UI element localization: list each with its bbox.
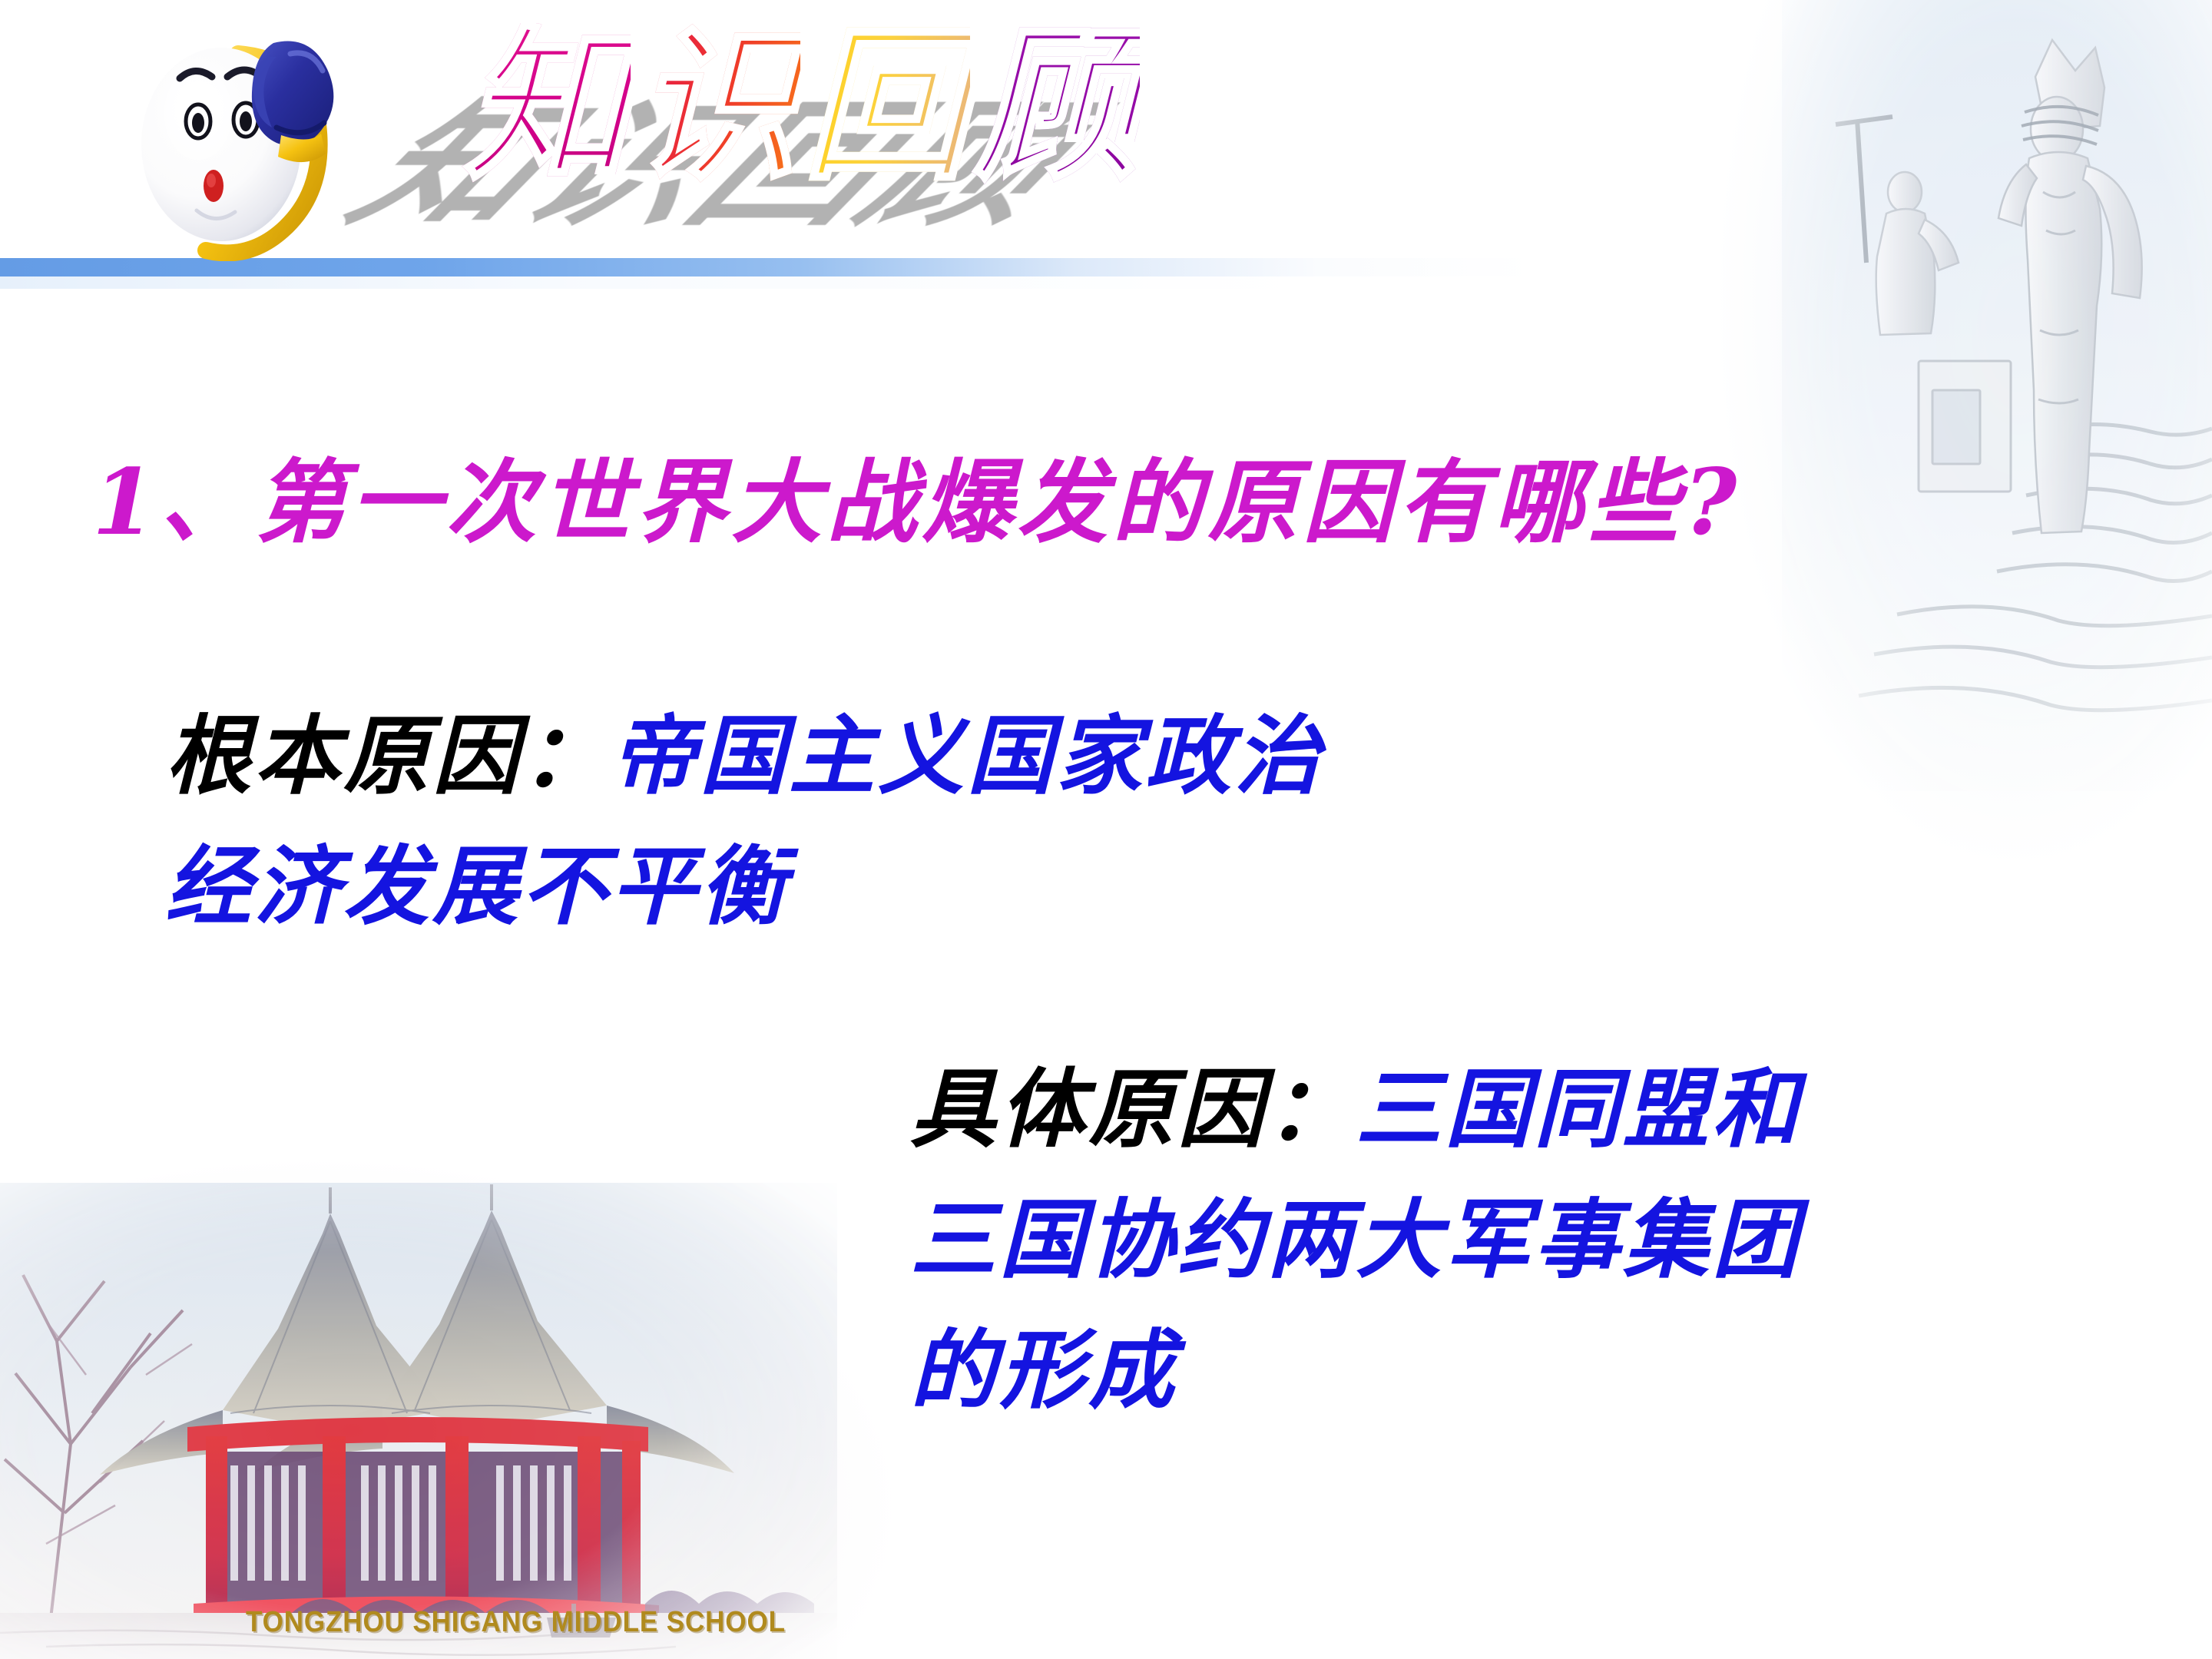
answer-specific-label: 具体原因： bbox=[910, 1059, 1356, 1160]
title-char-hui: 回 bbox=[800, 23, 970, 188]
answer-specific-line-3: 的形成 bbox=[910, 1306, 2212, 1436]
title-char-shi: 识 bbox=[631, 23, 800, 188]
answer-root-label: 根本原因： bbox=[165, 706, 611, 806]
campus-photo: TONGZHOU SHIGANG MIDDLE SCHOOL bbox=[0, 1183, 837, 1659]
answer-root-line-2: 经济发展不平衡 bbox=[165, 822, 1855, 952]
campus-photo-caption: TONGZHOU SHIGANG MIDDLE SCHOOL bbox=[246, 1606, 786, 1639]
egg-mascot-icon bbox=[123, 23, 353, 261]
title-char-zhi: 知 bbox=[461, 23, 631, 188]
answer-specific-line-1: 具体原因：三国同盟和 bbox=[910, 1045, 2212, 1175]
answer-block-specific-cause: 具体原因：三国同盟和 三国协约两大军事集团 的形成 bbox=[910, 1045, 2212, 1437]
page-title: 知 识 回 顾 知 识 回 顾 bbox=[461, 23, 1091, 315]
statue-photo bbox=[1782, 0, 2212, 791]
answer-root-text-1: 帝国主义国家政治 bbox=[611, 706, 1323, 806]
slide-canvas: 知 识 回 顾 知 识 回 顾 1、第一次世界大战爆发的原因有哪些? 根本原因：… bbox=[0, 0, 2212, 1659]
answer-specific-line-2: 三国协约两大军事集团 bbox=[910, 1175, 2212, 1306]
question-line: 1、第一次世界大战爆发的原因有哪些? bbox=[92, 445, 2028, 559]
title-char-gu: 顾 bbox=[970, 23, 1140, 188]
title-fill-layer: 知 识 回 顾 bbox=[461, 23, 1091, 315]
answer-specific-text-1: 三国同盟和 bbox=[1356, 1059, 1801, 1160]
answer-root-line-1: 根本原因：帝国主义国家政治 bbox=[165, 691, 1855, 822]
answer-block-root-cause: 根本原因：帝国主义国家政治 经济发展不平衡 bbox=[165, 691, 1855, 952]
